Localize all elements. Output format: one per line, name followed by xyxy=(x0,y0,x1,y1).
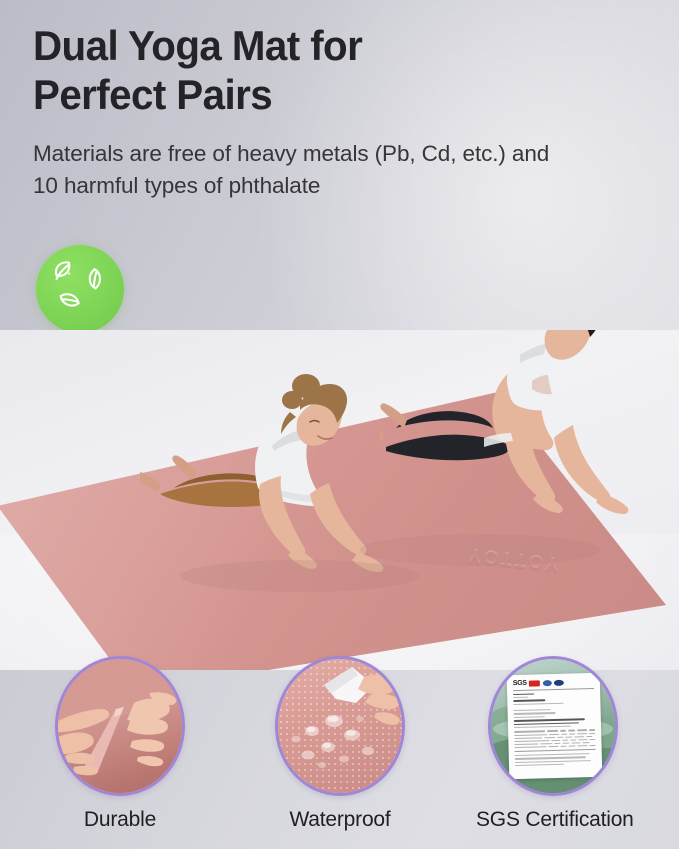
three-leaves-icon xyxy=(36,245,124,333)
certificate-header: SGS xyxy=(513,678,594,687)
footer-rule xyxy=(515,749,596,752)
feature-caption-sgs: SGS Certification xyxy=(476,808,628,832)
certificate-document-icon: SGS xyxy=(488,656,618,796)
results-table xyxy=(514,729,595,748)
page-subtitle: Materials are free of heavy metals (Pb, … xyxy=(33,138,653,202)
hero-image xyxy=(0,330,679,670)
accreditation-badge-red xyxy=(529,680,540,686)
figure-shadow xyxy=(150,480,630,620)
header-rule xyxy=(513,688,594,691)
report-body xyxy=(514,708,595,728)
hands-stretching-mat-icon xyxy=(55,656,185,796)
feature-waterproof[interactable]: Waterproof xyxy=(265,656,415,832)
accreditation-badge-blue xyxy=(543,680,552,686)
sgs-logo: SGS xyxy=(513,680,527,687)
waterproof-illustration xyxy=(278,659,402,793)
report-meta xyxy=(513,691,594,705)
water-droplets-icon xyxy=(275,656,405,796)
durable-illustration xyxy=(58,659,182,793)
feature-sgs-certification[interactable]: SGS xyxy=(478,656,628,832)
sgs-test-report: SGS xyxy=(507,673,603,779)
feature-caption-waterproof: Waterproof xyxy=(265,808,415,832)
page-title: Dual Yoga Mat for Perfect Pairs xyxy=(33,22,628,119)
feature-durable[interactable]: Durable xyxy=(45,656,195,832)
accreditation-badge-navy xyxy=(554,679,564,685)
feature-list: Durable xyxy=(0,650,679,849)
eco-badge xyxy=(36,245,124,333)
feature-caption-durable: Durable xyxy=(45,808,195,832)
headline-block: Dual Yoga Mat for Perfect Pairs Material… xyxy=(33,22,653,202)
product-feature-poster: Dual Yoga Mat for Perfect Pairs Material… xyxy=(0,0,679,849)
report-footnote xyxy=(515,753,596,767)
